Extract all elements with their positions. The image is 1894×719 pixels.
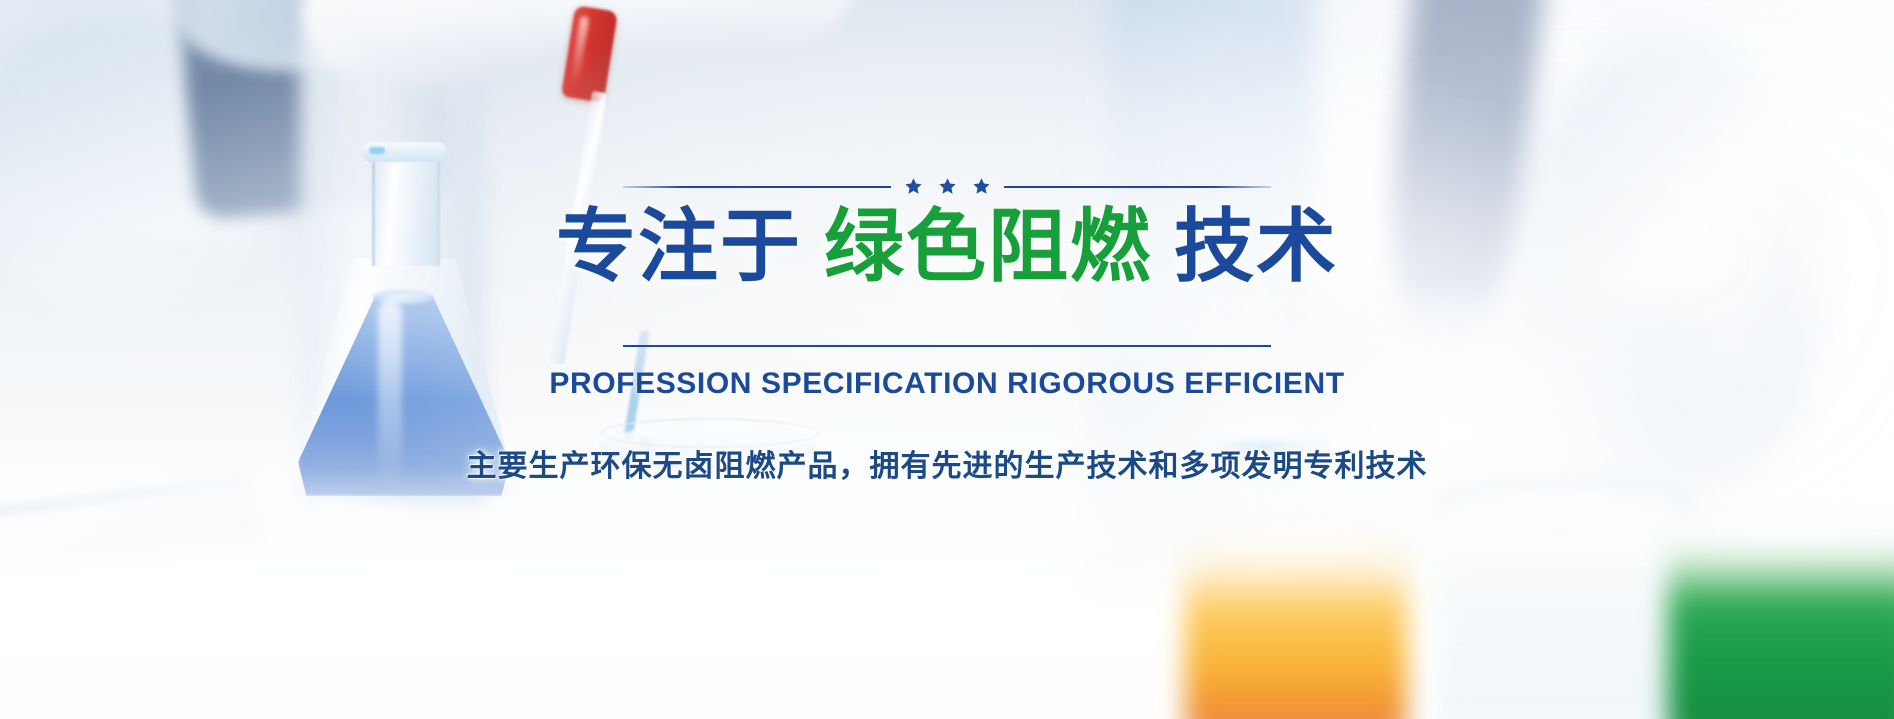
banner-content: 专注于绿色阻燃技术 PROFESSION SPECIFICATION RIGOR… [0,0,1894,719]
title-part-blue-1: 专注于 [556,202,802,291]
star-icon [972,177,991,196]
banner-subtitle-chinese: 主要生产环保无卤阻燃产品，拥有先进的生产技术和多项发明专利技术 [467,441,1428,485]
hero-banner: 专注于绿色阻燃技术 PROFESSION SPECIFICATION RIGOR… [0,0,1894,719]
decorative-rule-left [623,186,891,188]
title-underline [623,345,1271,347]
decorative-rule-right [1004,186,1272,188]
star-icon [938,177,957,196]
decorative-rule-row [623,177,1271,196]
title-part-blue-2: 技术 [1174,202,1338,291]
star-icon [904,177,923,196]
star-group [904,177,991,196]
banner-subtitle-english: PROFESSION SPECIFICATION RIGOROUS EFFICI… [549,367,1344,401]
title-part-green: 绿色阻燃 [824,202,1152,291]
banner-title: 专注于绿色阻燃技术 [556,206,1338,288]
